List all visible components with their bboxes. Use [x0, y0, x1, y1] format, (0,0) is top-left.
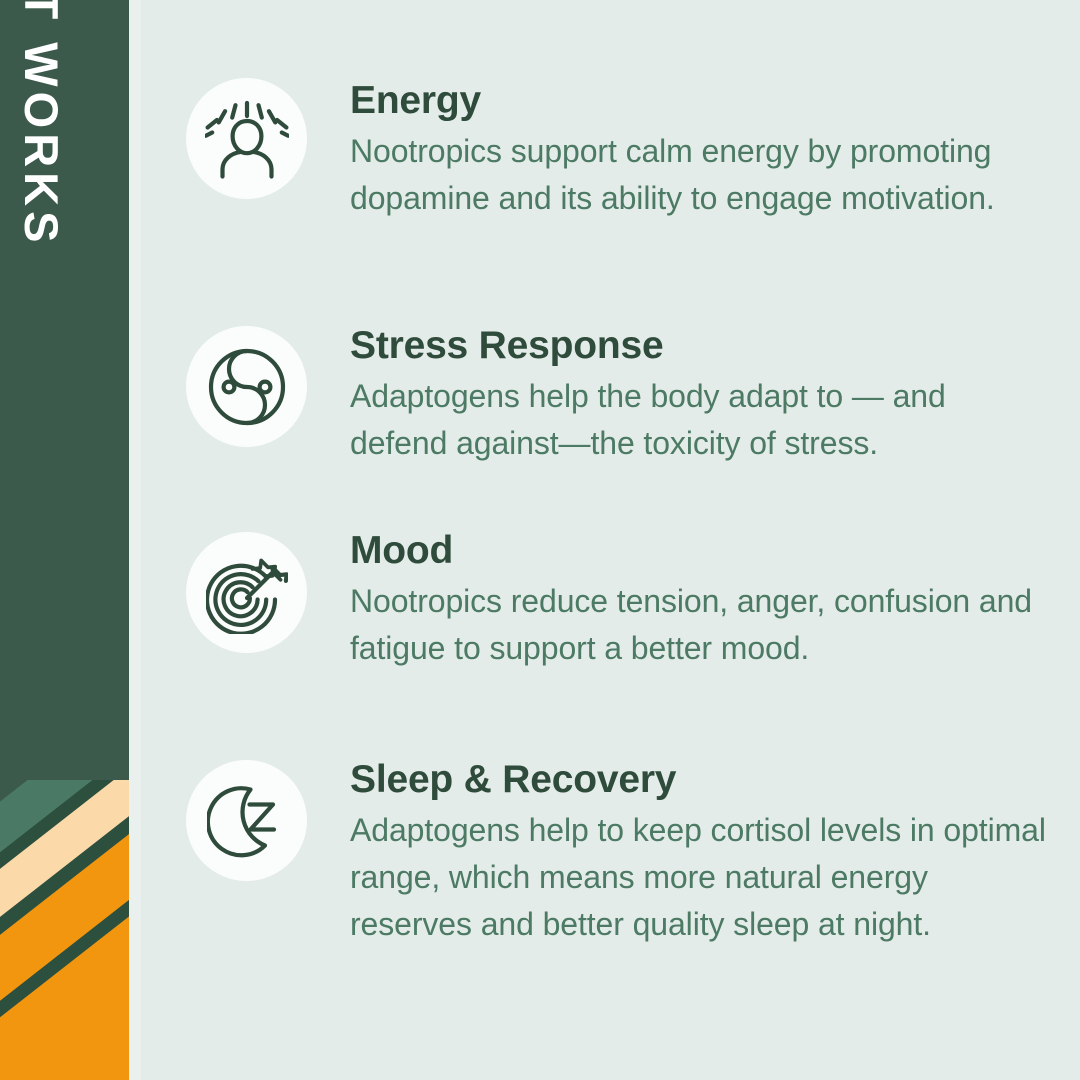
icon-badge-energy [186, 78, 307, 199]
section-heading: Sleep & Recovery [350, 760, 1050, 801]
section-heading: Energy [350, 81, 1050, 122]
section-body: Adaptogens help the body adapt to — and … [350, 373, 1050, 467]
section-sleep-recovery: Sleep & Recovery Adaptogens help to keep… [186, 757, 1050, 948]
sidebar-seam [129, 0, 141, 1080]
diagonal-stripe-decoration [0, 780, 129, 1080]
sections-list: Energy Nootropics support calm energy by… [141, 0, 1080, 1080]
section-text-mood: Mood Nootropics reduce tension, anger, c… [350, 528, 1050, 672]
section-body: Adaptogens help to keep cortisol levels … [350, 807, 1050, 948]
sidebar-title: HOW IT WORKS [18, 0, 65, 247]
section-text-energy: Energy Nootropics support calm energy by… [350, 78, 1050, 222]
section-text-stress-response: Stress Response Adaptogens help the body… [350, 323, 1050, 467]
target-arrow-icon [206, 552, 288, 634]
how-it-works-infographic: HOW IT WORKS [0, 0, 1080, 1080]
moon-z-sleep-icon [207, 781, 287, 861]
icon-badge-sleep-recovery [186, 760, 307, 881]
energy-person-radiating-icon [205, 97, 289, 181]
section-energy: Energy Nootropics support calm energy by… [186, 78, 1050, 222]
yin-yang-icon [207, 347, 287, 427]
section-mood: Mood Nootropics reduce tension, anger, c… [186, 528, 1050, 672]
section-stress-response: Stress Response Adaptogens help the body… [186, 323, 1050, 467]
section-heading: Stress Response [350, 326, 1050, 367]
section-body: Nootropics reduce tension, anger, confus… [350, 578, 1050, 672]
section-text-sleep-recovery: Sleep & Recovery Adaptogens help to keep… [350, 757, 1050, 948]
icon-badge-mood [186, 532, 307, 653]
section-heading: Mood [350, 531, 1050, 572]
icon-badge-stress-response [186, 326, 307, 447]
section-body: Nootropics support calm energy by promot… [350, 128, 1050, 222]
